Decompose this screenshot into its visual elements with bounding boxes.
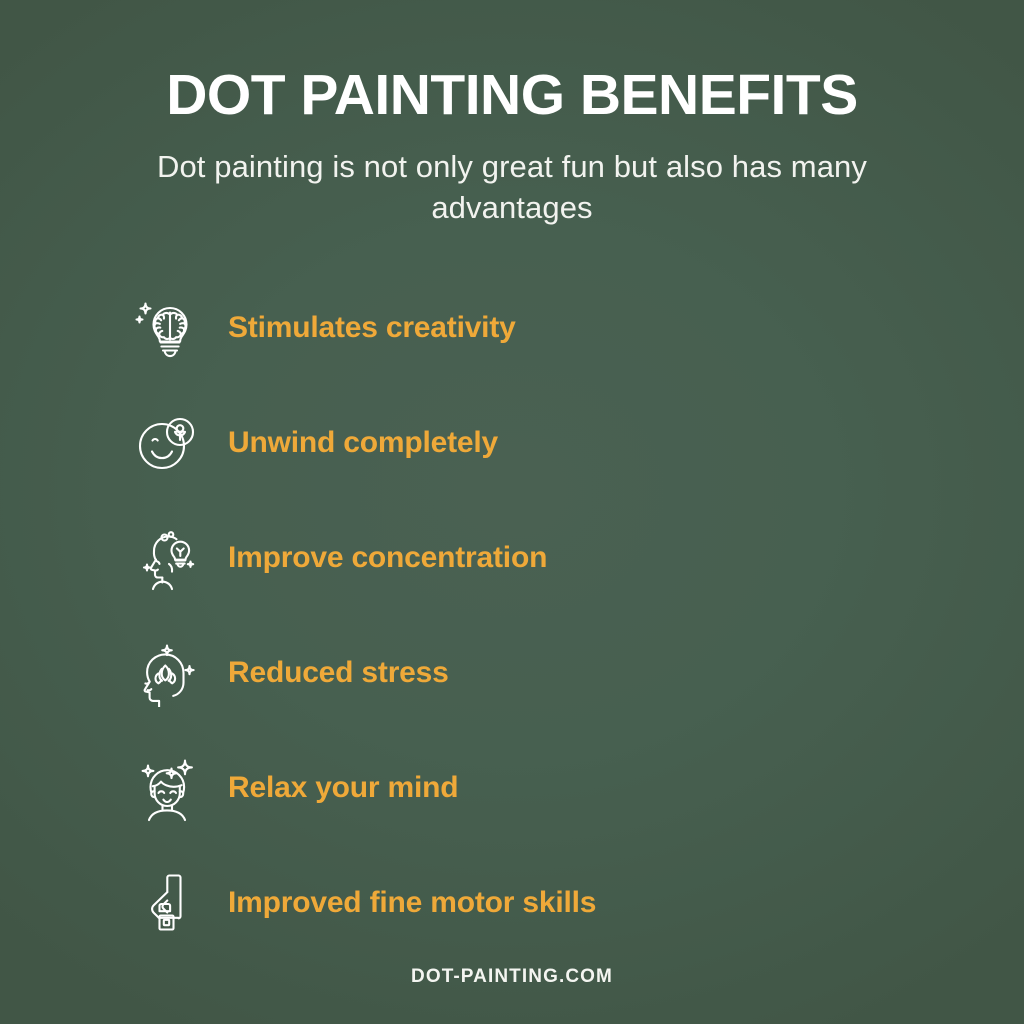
benefit-label: Stimulates creativity (228, 311, 516, 345)
benefit-label: Reduced stress (228, 656, 449, 690)
header: DOT PAINTING BENEFITS Dot painting is no… (0, 0, 1024, 228)
benefit-row: Stimulates creativity (131, 270, 516, 385)
footer: DOT-PAINTING.COM (0, 966, 1024, 988)
benefit-row: Reduced stress (131, 615, 449, 730)
page-subtitle: Dot painting is not only great fun but a… (132, 147, 892, 228)
benefit-label: Improved fine motor skills (228, 886, 596, 920)
benefit-label: Unwind completely (228, 426, 498, 460)
benefit-label: Relax your mind (228, 771, 458, 805)
infographic-poster: DOT PAINTING BENEFITS Dot painting is no… (0, 0, 1024, 1024)
hand-holding-block-icon (131, 867, 203, 939)
page-title: DOT PAINTING BENEFITS (0, 66, 1024, 125)
benefits-list: Stimulates creativity (0, 270, 1024, 960)
smiling-face-flower-icon (131, 407, 203, 479)
website-url: DOT-PAINTING.COM (411, 966, 613, 987)
benefit-row: Improved fine motor skills (131, 845, 596, 960)
relaxed-face-sparkles-icon (131, 752, 203, 824)
lightbulb-brain-icon (131, 292, 203, 364)
benefit-row: Relax your mind (131, 730, 458, 845)
head-lightbulb-icon (131, 522, 203, 594)
benefit-row: Unwind completely (131, 385, 498, 500)
benefit-row: Improve concentration (131, 500, 547, 615)
head-lotus-icon (131, 637, 203, 709)
benefit-label: Improve concentration (228, 541, 547, 575)
